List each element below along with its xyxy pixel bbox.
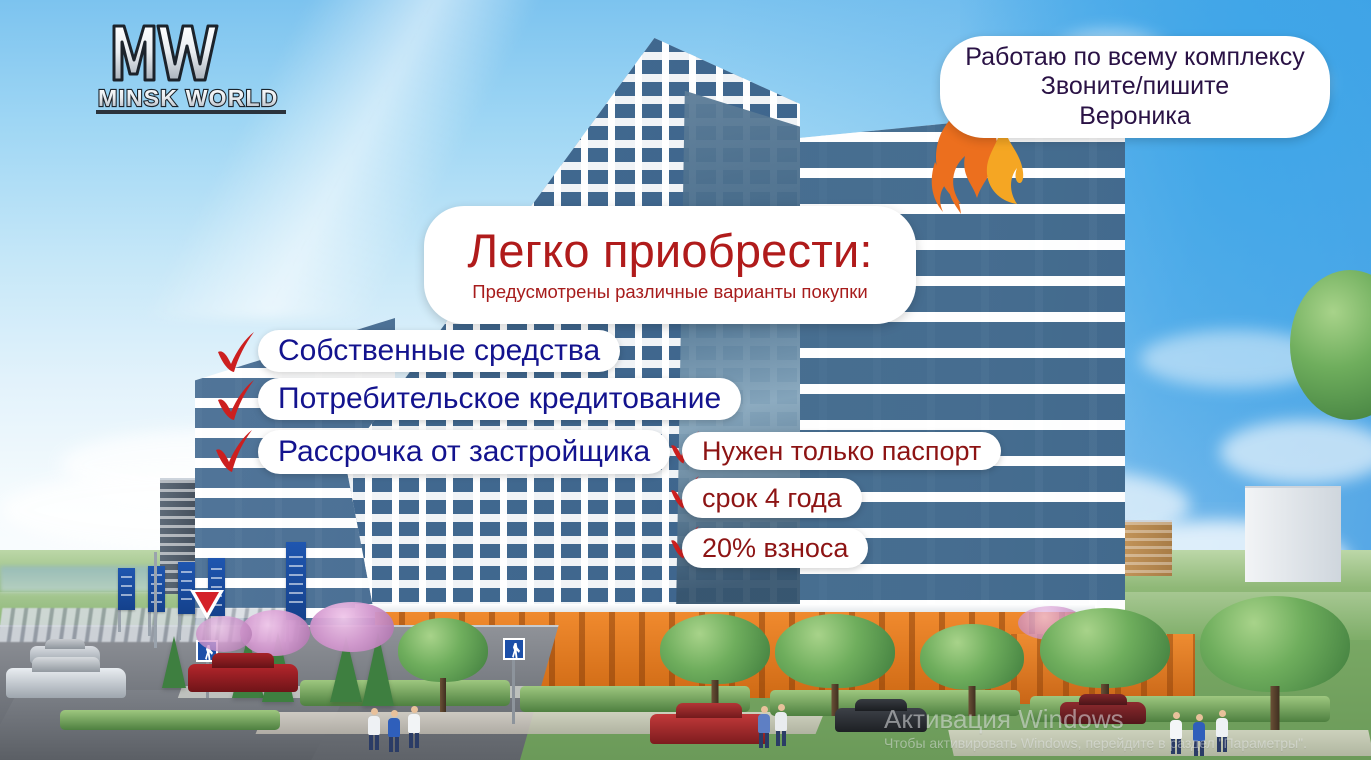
car [835, 708, 927, 732]
check-icon [214, 330, 258, 376]
tree-crown [920, 624, 1024, 690]
minsk-world-wordmark: MINSK WORLD [96, 85, 286, 114]
pedestrian [368, 708, 380, 750]
blossom-tree [196, 616, 252, 652]
tree [920, 624, 1024, 716]
poster-canvas: MINSK WORLD Работаю по всему комплексу З… [0, 0, 1371, 760]
installment-term-label: Нужен только паспорт [682, 436, 1001, 467]
tree-trunk [969, 686, 976, 716]
payment-option-pill[interactable]: Собственные средства [258, 330, 620, 372]
pedestrian [1170, 712, 1182, 754]
pedestrian [1216, 710, 1228, 752]
page-title: Легко приобрести: [467, 227, 872, 274]
tree-trunk [440, 678, 446, 712]
tree-crown [775, 614, 895, 688]
tree-trunk [1271, 686, 1280, 730]
pedestrian [775, 704, 787, 746]
contact-callout-card[interactable]: Работаю по всему комплексу Звоните/пишит… [940, 36, 1330, 138]
pedestrian [408, 706, 420, 748]
conifer-tree [162, 636, 186, 688]
mw-monogram-icon [114, 26, 217, 80]
tree [398, 618, 488, 710]
tree [1290, 270, 1371, 460]
installment-term-label: срок 4 года [682, 483, 862, 514]
payment-option-pill[interactable]: Рассрочка от застройщика [258, 430, 670, 474]
pedestrian-crossing-sign [503, 638, 525, 660]
payment-option-label: Собственные средства [258, 334, 620, 368]
installment-term-label: 20% взноса [682, 533, 868, 564]
page-subtitle: Предусмотрены различные варианты покупки [472, 281, 867, 303]
banner-flag [286, 542, 306, 620]
car [650, 714, 768, 744]
check-icon [212, 428, 256, 474]
car [188, 664, 298, 692]
tree-crown [660, 614, 770, 684]
sidewalk [948, 730, 1371, 756]
payment-option-label: Потребительское кредитование [258, 382, 741, 416]
title-card: Легко приобрести: Предусмотрены различны… [424, 206, 916, 324]
tree-crown [1290, 270, 1371, 420]
background-building [1245, 486, 1341, 582]
installment-term-pill[interactable]: срок 4 года [682, 478, 862, 518]
banner-flag [118, 568, 135, 610]
installment-term-pill[interactable]: Нужен только паспорт [682, 432, 1001, 470]
tree-crown [1200, 596, 1350, 692]
hedge [60, 710, 280, 730]
sign-post [512, 654, 515, 724]
pedestrian [388, 710, 400, 752]
payment-option-pill[interactable]: Потребительское кредитование [258, 378, 741, 420]
tree-crown [1040, 608, 1170, 688]
car [1060, 702, 1146, 724]
minsk-world-logo: MINSK WORLD [96, 18, 308, 118]
tree-crown [398, 618, 488, 682]
contact-line-1: Работаю по всему комплексу [965, 43, 1304, 73]
contact-line-2: Звоните/пишите [965, 72, 1304, 102]
installment-term-pill[interactable]: 20% взноса [682, 528, 868, 568]
svg-text:MINSK WORLD: MINSK WORLD [98, 85, 279, 111]
contact-agent-name: Вероника [965, 102, 1304, 132]
tree [660, 614, 770, 710]
flag-pole [154, 552, 157, 648]
check-icon [214, 378, 258, 424]
car [6, 668, 126, 698]
tree [1200, 596, 1350, 726]
pedestrian [1193, 714, 1205, 756]
pedestrian [758, 706, 770, 748]
blossom-tree [310, 602, 394, 652]
payment-option-label: Рассрочка от застройщика [258, 435, 670, 469]
